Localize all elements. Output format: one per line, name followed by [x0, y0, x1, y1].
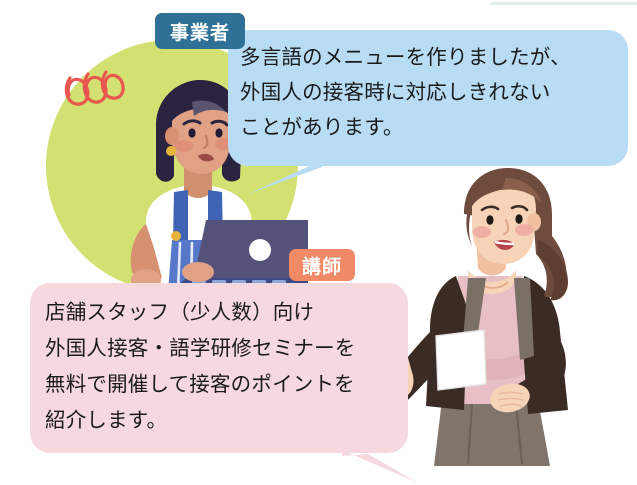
- owner-speech-text: 多言語のメニューを作りましたが、 外国人の接客時に対応しきれない ことがあります…: [240, 40, 620, 145]
- instructor-illustration: [368, 160, 637, 485]
- owner-bubble-tail: [246, 163, 322, 195]
- top-accent-band: [490, 2, 637, 5]
- speaker-badge-instructor: 講師: [289, 249, 355, 281]
- speaker-badge-owner: 事業者: [155, 13, 245, 49]
- instructor-speech-text: 店舗スタッフ（少人数）向け 外国人接客・語学研修セミナーを 無料で開催して接客の…: [45, 295, 405, 439]
- instructor-bubble-tail: [342, 450, 418, 483]
- illustration-canvas: 多言語のメニューを作りましたが、 外国人の接客時に対応しきれない ことがあります…: [0, 0, 637, 485]
